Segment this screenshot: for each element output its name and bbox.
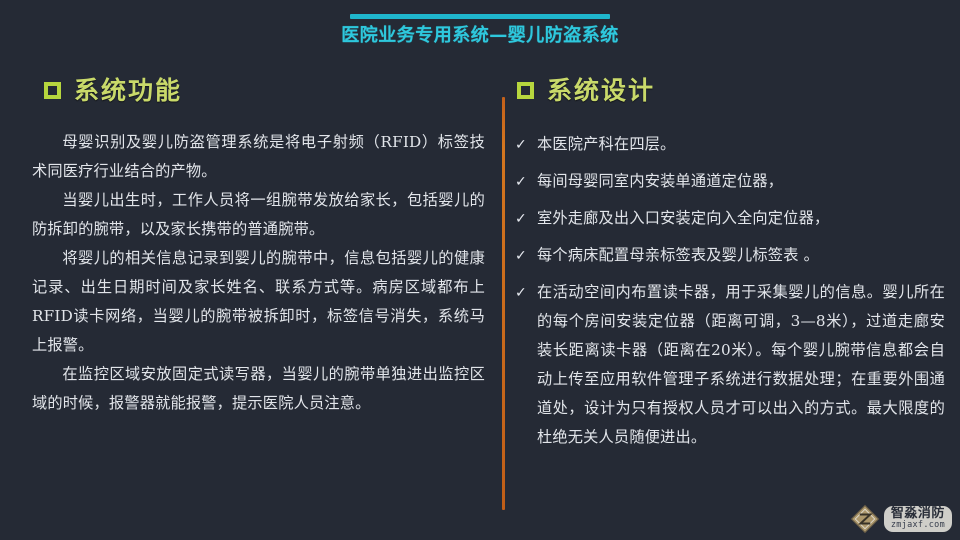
design-points-list: ✓ 本医院产科在四层。 ✓ 每间母婴同室内安装单通道定位器， ✓ 室外走廊及出入… — [505, 130, 945, 452]
content-columns: 系统功能 母婴识别及婴儿防盗管理系统是将电子射频（RFID）标签技术同医疗行业结… — [0, 70, 960, 500]
check-icon: ✓ — [515, 130, 528, 158]
page-title: 医院业务专用系统—婴儿防盗系统 — [0, 25, 960, 47]
paragraph: 在监控区域安放固定式读写器，当婴儿的腕带单独进出监控区域的时候，报警器就能报警，… — [32, 360, 485, 418]
watermark: 智淼消防 zmjaxf.com — [850, 504, 952, 534]
list-item-label: 在活动空间内布置读卡器，用于采集婴儿的信息。婴儿所在的每个房间安装定位器（距离可… — [537, 278, 945, 452]
left-section-heading: 系统功能 — [44, 70, 485, 108]
list-item: ✓ 在活动空间内布置读卡器，用于采集婴儿的信息。婴儿所在的每个房间安装定位器（距… — [515, 278, 945, 452]
paragraph: 当婴儿出生时，工作人员将一组腕带发放给家长，包括婴儿的防拆卸的腕带，以及家长携带… — [32, 186, 485, 244]
list-item-label: 每间母婴同室内安装单通道定位器， — [537, 167, 783, 195]
hollow-square-icon — [44, 82, 61, 99]
watermark-url: zmjaxf.com — [891, 521, 945, 530]
list-item: ✓ 室外走廊及出入口安装定向入全向定位器， — [515, 204, 945, 232]
list-item-label: 本医院产科在四层。 — [537, 130, 676, 158]
list-item-label: 每个病床配置母亲标签表及婴儿标签表 。 — [537, 241, 819, 269]
right-heading-label: 系统设计 — [547, 71, 655, 107]
right-section-heading: 系统设计 — [517, 70, 945, 108]
list-item: ✓ 每个病床配置母亲标签表及婴儿标签表 。 — [515, 241, 945, 269]
check-icon: ✓ — [515, 241, 528, 269]
list-item: ✓ 每间母婴同室内安装单通道定位器， — [515, 167, 945, 195]
watermark-name: 智淼消防 — [891, 507, 945, 520]
paragraph: 母婴识别及婴儿防盗管理系统是将电子射频（RFID）标签技术同医疗行业结合的产物。 — [32, 128, 485, 186]
left-body-text: 母婴识别及婴儿防盗管理系统是将电子射频（RFID）标签技术同医疗行业结合的产物。… — [30, 128, 485, 418]
watermark-textblock: 智淼消防 zmjaxf.com — [884, 506, 952, 532]
left-column: 系统功能 母婴识别及婴儿防盗管理系统是将电子射频（RFID）标签技术同医疗行业结… — [30, 70, 485, 418]
check-icon: ✓ — [515, 278, 528, 306]
title-accent-rule — [350, 14, 610, 19]
paragraph: 将婴儿的相关信息记录到婴儿的腕带中，信息包括婴儿的健康记录、出生日期时间及家长姓… — [32, 244, 485, 360]
list-item: ✓ 本医院产科在四层。 — [515, 130, 945, 158]
check-icon: ✓ — [515, 167, 528, 195]
check-icon: ✓ — [515, 204, 528, 232]
left-heading-label: 系统功能 — [74, 71, 182, 107]
list-item-label: 室外走廊及出入口安装定向入全向定位器， — [537, 204, 829, 232]
slide-title-block: 医院业务专用系统—婴儿防盗系统 — [0, 14, 960, 47]
hollow-square-icon — [517, 82, 534, 99]
right-column: 系统设计 ✓ 本医院产科在四层。 ✓ 每间母婴同室内安装单通道定位器， ✓ 室外… — [505, 70, 945, 468]
diamond-logo-icon — [850, 504, 880, 534]
